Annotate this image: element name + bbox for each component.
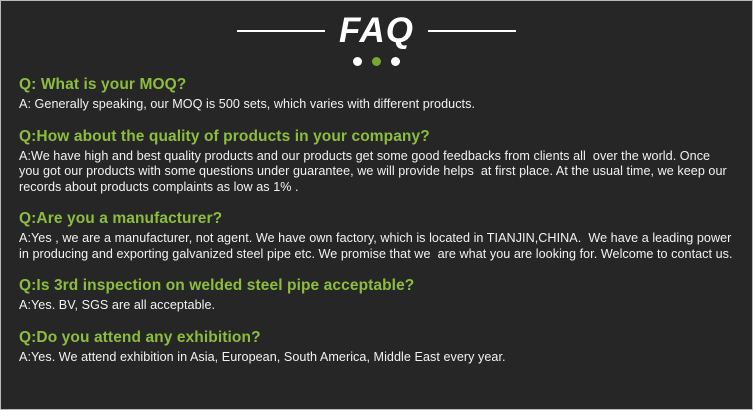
faq-question: Q:Do you attend any exhibition? <box>19 327 734 348</box>
faq-title-row: FAQ <box>5 9 748 53</box>
faq-answer: A:Yes. We attend exhibition in Asia, Eur… <box>19 350 734 366</box>
faq-answer: A:Yes. BV, SGS are all acceptable. <box>19 298 734 314</box>
title-rule-left-decoration <box>237 30 325 32</box>
dot-icon-3 <box>391 57 400 66</box>
faq-question: Q:Are you a manufacturer? <box>19 208 734 229</box>
faq-answer: A:Yes , we are a manufacturer, not agent… <box>19 231 734 262</box>
faq-item: Q: What is your MOQ? A: Generally speaki… <box>19 74 734 113</box>
faq-list: Q: What is your MOQ? A: Generally speaki… <box>19 74 734 378</box>
faq-question: Q: What is your MOQ? <box>19 74 734 95</box>
page-title: FAQ <box>339 11 414 51</box>
faq-panel: FAQ Q: What is your MOQ? A: Generally sp… <box>5 4 748 405</box>
faq-item: Q:Do you attend any exhibition? A:Yes. W… <box>19 327 734 366</box>
dot-icon-1 <box>353 57 362 66</box>
faq-answer: A: Generally speaking, our MOQ is 500 se… <box>19 97 734 113</box>
faq-question: Q:Is 3rd inspection on welded steel pipe… <box>19 275 734 296</box>
faq-item: Q:Is 3rd inspection on welded steel pipe… <box>19 275 734 314</box>
dot-separator <box>5 57 748 66</box>
faq-answer: A:We have high and best quality products… <box>19 149 734 196</box>
faq-question: Q:How about the quality of products in y… <box>19 126 734 147</box>
title-rule-right-decoration <box>428 30 516 32</box>
faq-item: Q:Are you a manufacturer? A:Yes , we are… <box>19 208 734 262</box>
faq-item: Q:How about the quality of products in y… <box>19 126 734 196</box>
dot-icon-2 <box>372 57 381 66</box>
faq-banner: FAQ Q: What is your MOQ? A: Generally sp… <box>0 0 753 410</box>
faq-header: FAQ <box>5 9 748 71</box>
